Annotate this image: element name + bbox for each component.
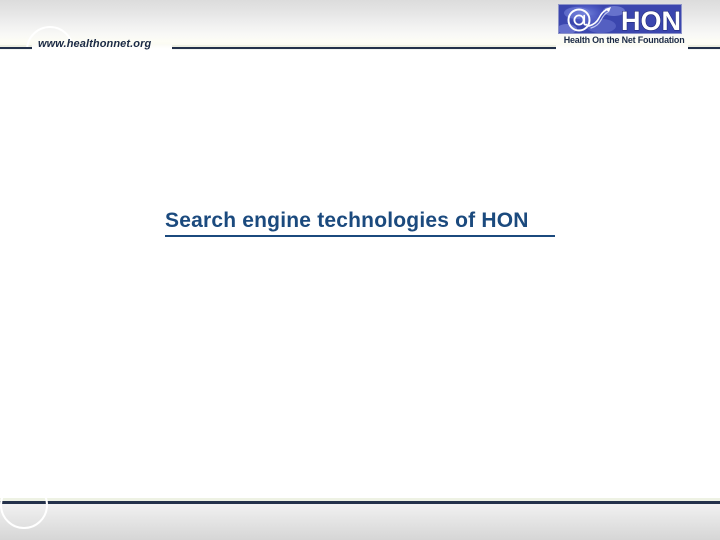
- hon-logo[interactable]: HON Health On the Net Foundation: [558, 4, 684, 50]
- footer-band: [0, 504, 720, 540]
- slide: www.healthonnet.org: [0, 0, 720, 540]
- hon-wordmark: HON: [621, 6, 681, 34]
- decorative-circle-bottom: [0, 481, 48, 529]
- hon-logo-tagline: Health On the Net Foundation: [564, 35, 681, 46]
- slide-title: Search engine technologies of HON: [165, 209, 529, 233]
- slide-title-underline: [165, 235, 555, 237]
- hon-logo-box: HON: [558, 4, 682, 34]
- website-url[interactable]: www.healthonnet.org: [38, 38, 151, 50]
- hon-logo-graphic: HON: [559, 5, 682, 34]
